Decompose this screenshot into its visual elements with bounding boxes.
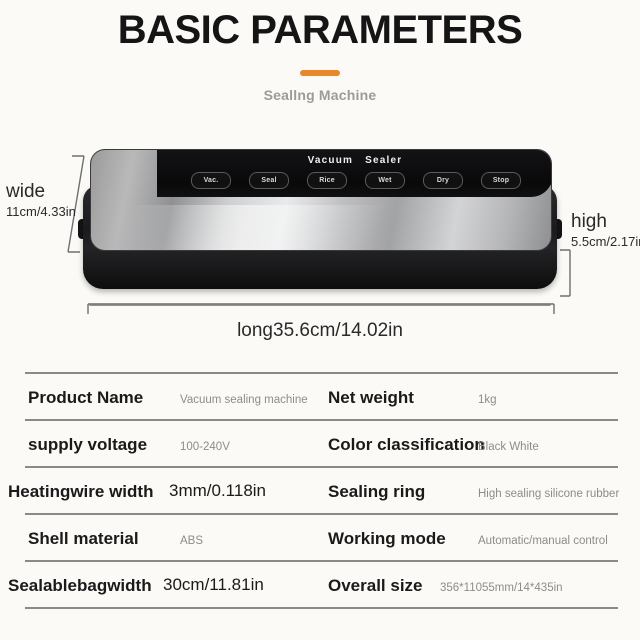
control-panel-buttons: Vac. Seal Rice Wet Dry Stop — [191, 172, 521, 189]
spec-value-overall-size: 356*11055mm/14*435in — [440, 579, 563, 597]
product-image-vacuum-sealer: VacuumSealer Vac. Seal Rice Wet Dry Stop — [83, 147, 557, 292]
length-dimension-bracket — [86, 302, 556, 316]
spec-value-color-classification: Black White — [478, 438, 539, 456]
control-panel: VacuumSealer Vac. Seal Rice Wet Dry Stop — [157, 150, 552, 197]
device-button-rice[interactable]: Rice — [307, 172, 347, 189]
spec-label-sealable-bag-width: Sealablebagwidth — [8, 575, 152, 597]
width-dimension-name: wide — [6, 180, 76, 203]
title-accent-rule — [300, 70, 340, 76]
spec-divider-top — [25, 372, 618, 374]
spec-value-shell-material: ABS — [180, 532, 203, 550]
height-dimension-value: 5.5cm/2.17in — [571, 233, 640, 250]
table-row: Shell material ABS Working mode Automati… — [0, 528, 640, 575]
device-button-seal[interactable]: Seal — [249, 172, 289, 189]
table-row: Heatingwire width 3mm/0.118in Sealing ri… — [0, 481, 640, 528]
device-button-wet[interactable]: Wet — [365, 172, 405, 189]
device-lid: VacuumSealer Vac. Seal Rice Wet Dry Stop — [90, 149, 552, 251]
spec-value-sealable-bag-width: 30cm/11.81in — [163, 576, 264, 594]
spec-value-heatingwire-width: 3mm/0.118in — [169, 482, 266, 500]
spec-label-working-mode: Working mode — [328, 528, 446, 550]
page-subtitle: Seallng Machine — [0, 87, 640, 103]
spec-value-net-weight: 1kg — [478, 391, 497, 409]
device-button-dry[interactable]: Dry — [423, 172, 463, 189]
lid-gloss-highlight — [91, 205, 552, 251]
page-header: BASIC PARAMETERS Seallng Machine — [0, 0, 640, 120]
spec-value-product-name: Vacuum sealing machine — [180, 391, 308, 409]
spec-label-sealing-ring: Sealing ring — [328, 481, 425, 503]
length-dimension-label: long35.6cm/14.02in — [0, 320, 640, 342]
table-row: Sealablebagwidth 30cm/11.81in Overall si… — [0, 575, 640, 622]
device-button-stop[interactable]: Stop — [481, 172, 521, 189]
control-panel-brand: VacuumSealer — [157, 155, 552, 166]
spec-table: Product Name Vacuum sealing machine Net … — [0, 370, 640, 630]
spec-value-supply-voltage: 100-240V — [180, 438, 230, 456]
spec-label-shell-material: Shell material — [28, 528, 139, 550]
table-row: Product Name Vacuum sealing machine Net … — [0, 387, 640, 434]
page-title: BASIC PARAMETERS — [0, 6, 640, 54]
spec-label-net-weight: Net weight — [328, 387, 414, 409]
height-dimension-name: high — [571, 210, 640, 233]
device-button-vac[interactable]: Vac. — [191, 172, 231, 189]
product-hero: VacuumSealer Vac. Seal Rice Wet Dry Stop… — [0, 120, 640, 355]
spec-label-color-classification: Color classification — [328, 434, 485, 456]
brand-word-vacuum: Vacuum — [308, 155, 354, 166]
width-dimension-value: 11cm/4.33in — [6, 203, 76, 220]
spec-label-overall-size: Overall size — [328, 575, 423, 597]
table-row: supply voltage 100-240V Color classifica… — [0, 434, 640, 481]
height-dimension-bracket — [556, 248, 578, 300]
brand-word-sealer: Sealer — [365, 155, 402, 166]
spec-value-working-mode: Automatic/manual control — [478, 532, 608, 550]
width-dimension-label: wide 11cm/4.33in — [6, 180, 76, 220]
spec-label-supply-voltage: supply voltage — [28, 434, 147, 456]
spec-label-product-name: Product Name — [28, 387, 143, 409]
spec-label-heatingwire-width: Heatingwire width — [8, 481, 153, 503]
height-dimension-label: high 5.5cm/2.17in — [571, 210, 640, 250]
spec-value-sealing-ring: High sealing silicone rubber — [478, 485, 619, 503]
